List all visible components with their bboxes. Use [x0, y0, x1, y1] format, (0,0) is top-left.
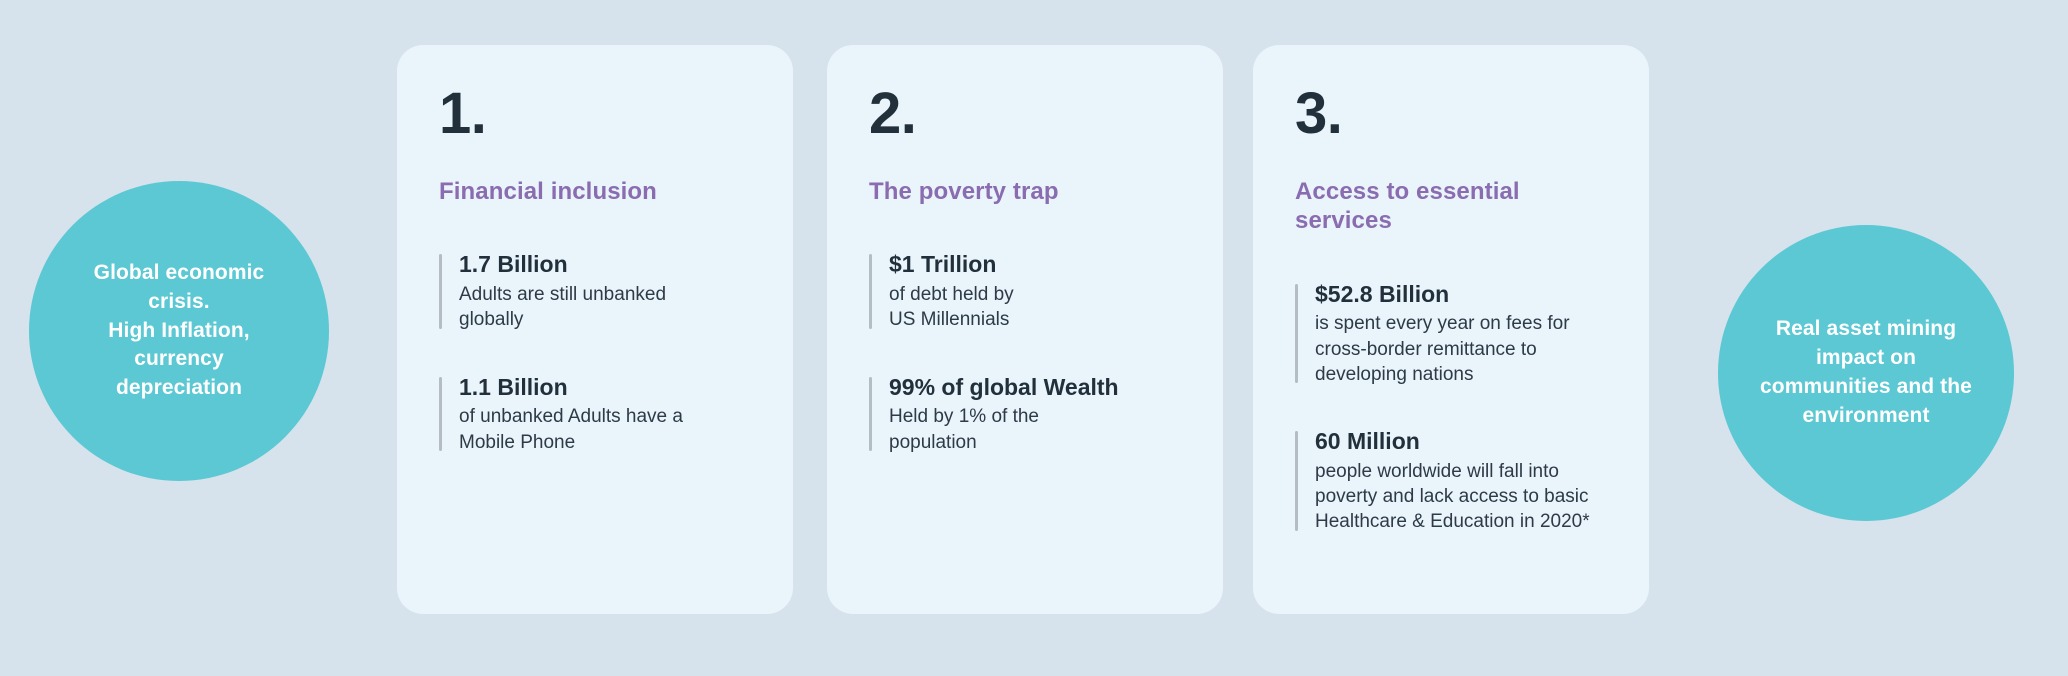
card-1-stats: 1.7 Billion Adults are still unbanked gl… — [439, 250, 751, 455]
stat-description: of unbanked Adults have a Mobile Phone — [459, 404, 751, 455]
stat-value: $52.8 Billion — [1315, 280, 1607, 309]
stat-value: 60 Million — [1315, 427, 1607, 456]
stat-value: $1 Trillion — [889, 250, 1181, 279]
stat-block: 99% of global Wealth Held by 1% of the p… — [869, 373, 1181, 455]
stat-value: 99% of global Wealth — [889, 373, 1181, 402]
circle-right-text: Real asset mining impact on communities … — [1746, 315, 1986, 431]
stat-block: 1.1 Billion of unbanked Adults have a Mo… — [439, 373, 751, 455]
circle-right-impact: Real asset mining impact on communities … — [1718, 225, 2014, 521]
card-1-heading: Financial inclusion — [439, 177, 751, 206]
stat-block: 1.7 Billion Adults are still unbanked gl… — [439, 250, 751, 332]
stat-value: 1.1 Billion — [459, 373, 751, 402]
stat-block: $1 Trillion of debt held by US Millennia… — [869, 250, 1181, 332]
stat-block: 60 Million people worldwide will fall in… — [1295, 427, 1607, 535]
stat-description: Held by 1% of the population — [889, 404, 1181, 455]
card-access-to-essential-services: 3. Access to essential services $52.8 Bi… — [1253, 45, 1649, 614]
card-3-number: 3. — [1295, 85, 1607, 143]
card-2-heading: The poverty trap — [869, 177, 1181, 206]
card-3-stats: $52.8 Billion is spent every year on fee… — [1295, 280, 1607, 535]
stat-description: of debt held by US Millennials — [889, 282, 1181, 333]
circle-left-text: Global economic crisis. High Inflation, … — [80, 259, 279, 404]
card-poverty-trap: 2. The poverty trap $1 Trillion of debt … — [827, 45, 1223, 614]
infographic-canvas: Global economic crisis. High Inflation, … — [0, 0, 2068, 676]
circle-left-problem: Global economic crisis. High Inflation, … — [29, 181, 329, 481]
stat-description: is spent every year on fees for cross-bo… — [1315, 311, 1607, 387]
card-1-number: 1. — [439, 85, 751, 143]
card-financial-inclusion: 1. Financial inclusion 1.7 Billion Adult… — [397, 45, 793, 614]
stat-description: Adults are still unbanked globally — [459, 282, 751, 333]
card-3-heading: Access to essential services — [1295, 177, 1607, 236]
stat-value: 1.7 Billion — [459, 250, 751, 279]
stat-block: $52.8 Billion is spent every year on fee… — [1295, 280, 1607, 388]
card-2-stats: $1 Trillion of debt held by US Millennia… — [869, 250, 1181, 455]
card-2-number: 2. — [869, 85, 1181, 143]
stat-description: people worldwide will fall into poverty … — [1315, 459, 1607, 535]
